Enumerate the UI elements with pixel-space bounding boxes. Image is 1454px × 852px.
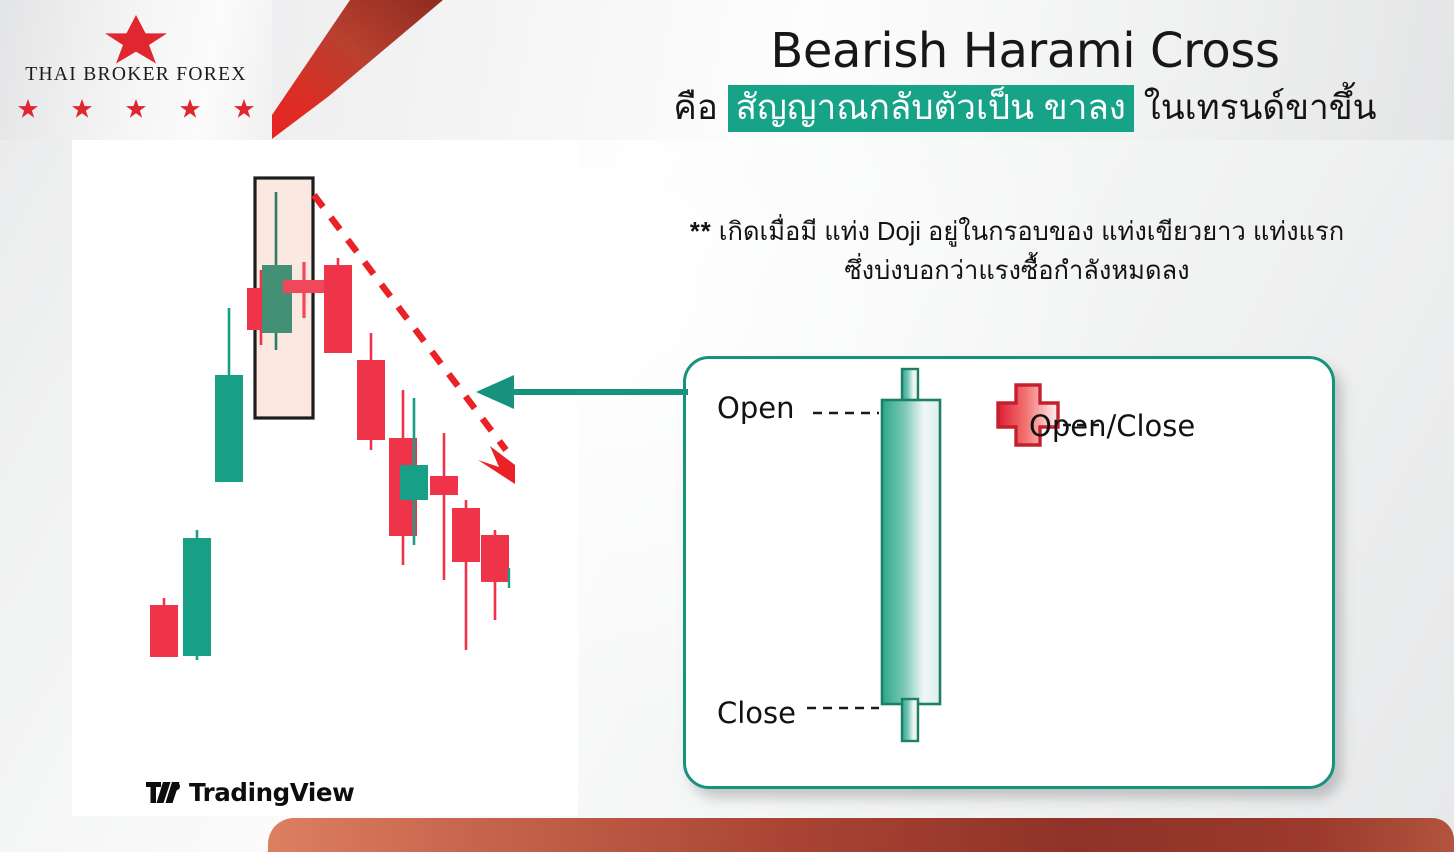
subtitle-prefix: คือ [673,88,717,127]
candlestick-chart [72,140,578,816]
subtitle-highlight: สัญญาณกลับตัวเป็น ขาลง [728,85,1134,132]
candle-1 [150,598,178,657]
candle-13 [481,530,509,620]
description-block: ** เกิดเมื่อมี แท่ง Doji อยู่ในกรอบของ แ… [580,213,1454,291]
bottom-accent-bar [268,818,1454,852]
tradingview-wordmark: TradingView [189,778,354,807]
bullish-candle-icon [882,369,940,741]
brand-name: THAI BROKER FOREX [0,64,272,86]
description-stars: ** [690,218,712,246]
legend-pointer-arrow [476,372,688,412]
title-block: Bearish Harami Cross คือ สัญญาณกลับตัวเป… [596,26,1454,130]
tradingview-logo-icon [146,782,180,804]
candle-7 [324,258,352,353]
description-line-2: ซึ่งบ่งบอกว่าแรงซื้อกำลังหมดลง [580,252,1454,291]
red-diagonal-ribbon-icon [255,0,445,158]
candle-3 [215,308,243,482]
star-icon [126,99,146,118]
star-icon [18,99,38,118]
candle-2 [183,530,211,660]
legend-card: Open Close Open/Close [683,356,1335,789]
star-icon [72,99,92,118]
page-title: Bearish Harami Cross [596,26,1454,78]
candle-12 [452,500,480,650]
subtitle: คือ สัญญาณกลับตัวเป็น ขาลง ในเทรนด์ขาขึ้… [596,86,1454,130]
star-icon [180,99,200,118]
description-line-1: ** เกิดเมื่อมี แท่ง Doji อยู่ในกรอบของ แ… [580,213,1454,252]
candlestick-chart-panel: TradingView [72,140,578,816]
legend-label-close: Close [717,696,796,730]
brand-star-row [0,99,272,118]
candle-8 [357,333,385,450]
description-line-1-text: เกิดเมื่อมี แท่ง Doji อยู่ในกรอบของ แท่ง… [719,218,1344,246]
star-icon [234,99,254,118]
star-icon [97,14,175,64]
subtitle-suffix: ในเทรนด์ขาขึ้น [1144,88,1377,127]
tradingview-watermark: TradingView [146,778,354,807]
legend-label-open: Open [717,391,794,425]
brand-logo: THAI BROKER FOREX [0,0,272,140]
legend-label-open-close: Open/Close [1029,409,1195,443]
